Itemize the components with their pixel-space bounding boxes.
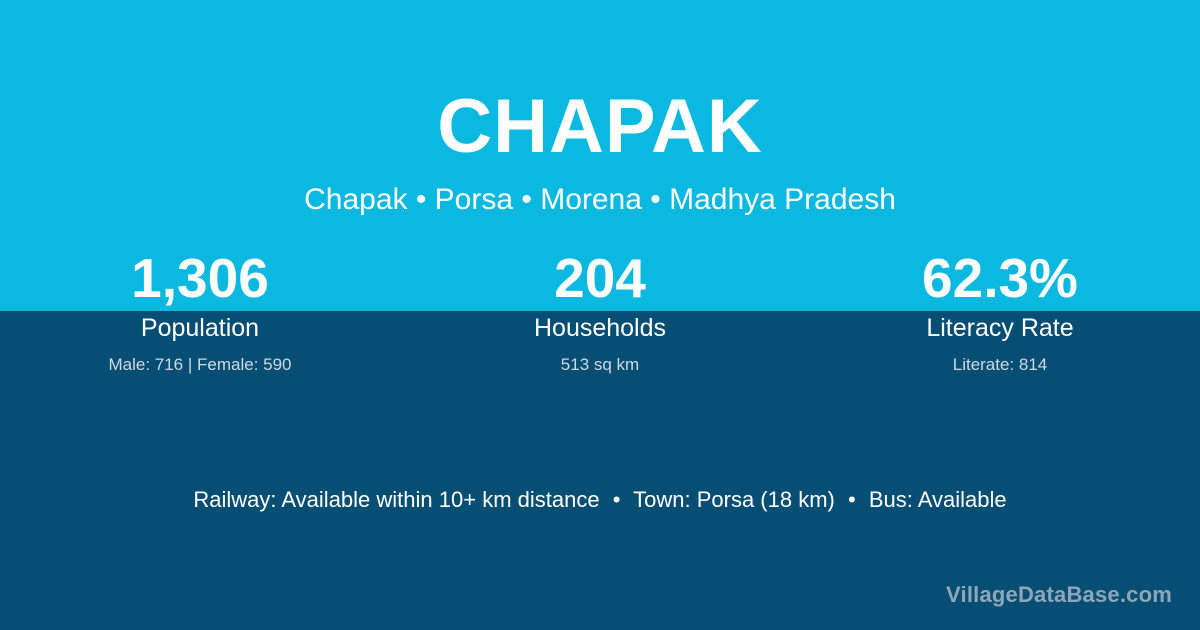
page-title: CHAPAK xyxy=(0,84,1200,170)
stat-label: Households xyxy=(400,312,800,344)
transport-bus: Bus: Available xyxy=(869,487,1007,512)
stats-row: 1,306 Population Male: 716 | Female: 590… xyxy=(0,246,1200,377)
stat-subtext: Male: 716 | Female: 590 xyxy=(0,353,400,377)
stat-value: 1,306 xyxy=(0,246,400,310)
transport-railway: Railway: Available within 10+ km distanc… xyxy=(193,487,599,512)
transport-separator: • xyxy=(606,487,628,512)
transport-info: Railway: Available within 10+ km distanc… xyxy=(0,484,1200,516)
stat-subtext: 513 sq km xyxy=(400,353,800,377)
village-info-banner: CHAPAK Chapak • Porsa • Morena • Madhya … xyxy=(0,0,1200,630)
transport-town: Town: Porsa (18 km) xyxy=(633,487,835,512)
stat-households: 204 Households 513 sq km xyxy=(400,246,800,377)
stat-label: Literacy Rate xyxy=(800,312,1200,344)
transport-separator: • xyxy=(841,487,863,512)
stat-label: Population xyxy=(0,312,400,344)
stat-value: 62.3% xyxy=(800,246,1200,310)
stat-literacy-rate: 62.3% Literacy Rate Literate: 814 xyxy=(800,246,1200,377)
stat-value: 204 xyxy=(400,246,800,310)
stat-population: 1,306 Population Male: 716 | Female: 590 xyxy=(0,246,400,377)
site-watermark: VillageDataBase.com xyxy=(946,582,1172,608)
breadcrumb: Chapak • Porsa • Morena • Madhya Pradesh xyxy=(0,181,1200,219)
stat-subtext: Literate: 814 xyxy=(800,353,1200,377)
